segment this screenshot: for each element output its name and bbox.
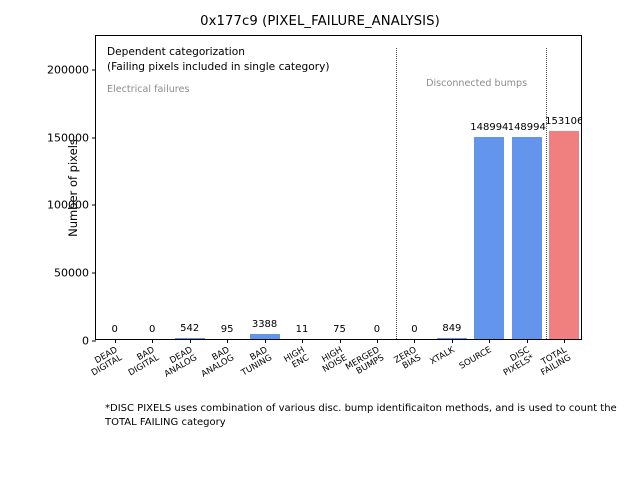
bar <box>250 334 280 339</box>
x-tick-mark <box>377 339 378 343</box>
y-tick-label: 200000 <box>47 63 96 76</box>
annotation-line-1: Dependent categorization <box>107 45 330 60</box>
bar <box>512 137 542 339</box>
x-tick-mark <box>414 339 415 343</box>
x-tick-mark <box>527 339 528 343</box>
x-tick-mark <box>489 339 490 343</box>
x-tick-mark <box>452 339 453 343</box>
figure: 0x177c9 (PIXEL_FAILURE_ANALYSIS) Number … <box>0 0 640 480</box>
chart-title: 0x177c9 (PIXEL_FAILURE_ANALYSIS) <box>0 14 640 29</box>
annotation-line-2: (Failing pixels included in single categ… <box>107 60 330 75</box>
bar-value-label: 75 <box>333 324 346 335</box>
group-label-electrical: Electrical failures <box>107 84 189 95</box>
bar-value-label: 0 <box>149 324 155 335</box>
bar-value-label: 542 <box>180 323 199 334</box>
y-tick-label: 150000 <box>47 131 96 144</box>
bar-value-label: 0 <box>411 324 417 335</box>
bar-value-label: 11 <box>296 324 309 335</box>
group-label-disconnected: Disconnected bumps <box>426 78 527 89</box>
bar-value-label: 849 <box>442 323 461 334</box>
bar-value-label: 0 <box>374 324 380 335</box>
bar-value-label: 153106 <box>545 116 581 127</box>
x-tick-mark <box>564 339 565 343</box>
x-tick-mark <box>190 339 191 343</box>
y-tick-mark <box>92 341 96 342</box>
x-tick-mark <box>152 339 153 343</box>
bar-value-label: 3388 <box>252 319 277 330</box>
bar-value-label: 0 <box>112 324 118 335</box>
chart-annotation: Dependent categorization (Failing pixels… <box>107 45 330 74</box>
bar-value-label: 148994 <box>508 122 546 133</box>
bar <box>437 338 467 339</box>
y-tick-label: 50000 <box>54 267 96 280</box>
x-tick-mark <box>115 339 116 343</box>
group-divider <box>546 48 547 339</box>
bar-value-label: 148994 <box>470 122 508 133</box>
y-axis-label: Number of pixels <box>66 139 80 237</box>
bar-value-label: 95 <box>221 324 234 335</box>
group-divider <box>396 48 397 339</box>
bar <box>549 131 579 339</box>
x-tick-mark <box>302 339 303 343</box>
group-label-disconnected-line-2: bumps <box>494 78 527 89</box>
footnote: *DISC PIXELS uses combination of various… <box>105 402 621 430</box>
bar <box>474 137 504 339</box>
plot-area: Number of pixels 05000010000015000020000… <box>95 35 582 340</box>
bar <box>175 338 205 339</box>
x-tick-mark <box>227 339 228 343</box>
group-label-disconnected-line-1: Disconnected <box>426 78 491 89</box>
y-tick-label: 100000 <box>47 199 96 212</box>
x-tick-mark <box>340 339 341 343</box>
x-tick-mark <box>265 339 266 343</box>
group-label-electrical-text: Electrical failures <box>107 84 189 95</box>
